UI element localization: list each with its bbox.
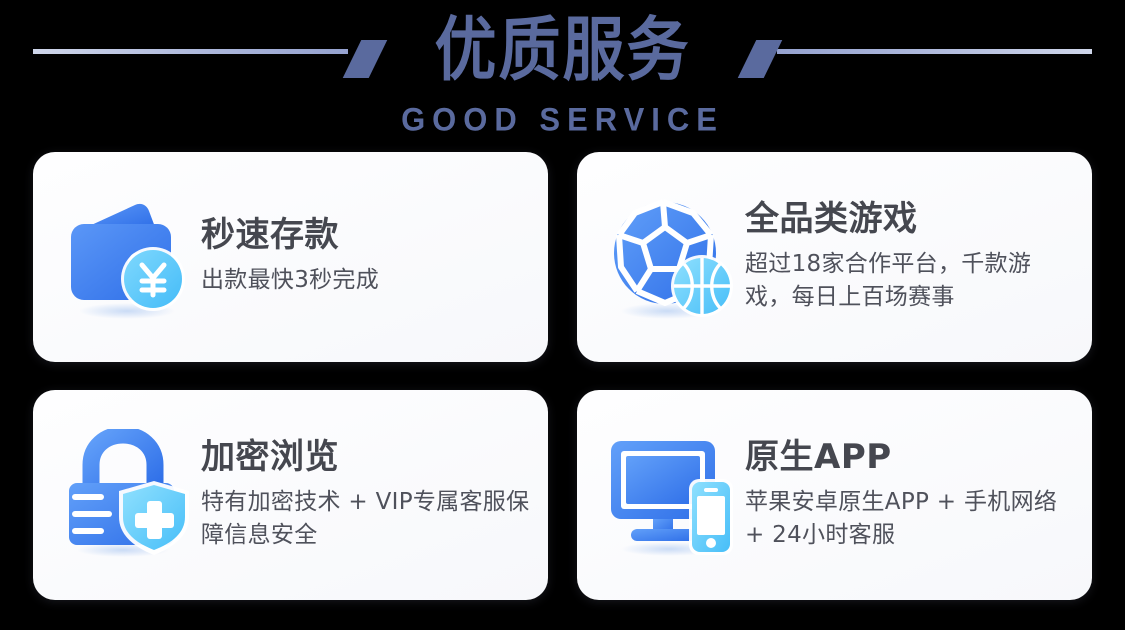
feature-card-text: 全品类游戏 超过18家合作平台，千款游戏，每日上百场赛事 (745, 201, 1076, 314)
wallet-yen-icon (61, 191, 193, 323)
feature-card-native-app[interactable]: 原生APP 苹果安卓原生APP + 手机网络 + 24小时客服 (577, 390, 1092, 600)
feature-card-text: 原生APP 苹果安卓原生APP + 手机网络 + 24小时客服 (745, 439, 1076, 552)
feature-card-desc: 出款最快3秒完成 (201, 264, 532, 297)
page-subtitle: GOOD SERVICE (0, 101, 1125, 139)
feature-card-desc: 苹果安卓原生APP + 手机网络 + 24小时客服 (745, 486, 1076, 551)
feature-card-desc: 超过18家合作平台，千款游戏，每日上百场赛事 (745, 248, 1076, 313)
header-title-block: 优质服务 GOOD SERVICE (0, 0, 1125, 138)
feature-card-grid: 秒速存款 出款最快3秒完成 (33, 152, 1092, 600)
feature-card-text: 加密浏览 特有加密技术 + VIP专属客服保障信息安全 (201, 439, 532, 552)
feature-card-encryption[interactable]: 加密浏览 特有加密技术 + VIP专属客服保障信息安全 (33, 390, 548, 600)
feature-card-title: 加密浏览 (201, 439, 532, 476)
page-header: 优质服务 GOOD SERVICE (0, 0, 1125, 142)
feature-card-title: 原生APP (745, 439, 1076, 476)
page-title: 优质服务 (0, 0, 1125, 85)
feature-card-deposit[interactable]: 秒速存款 出款最快3秒完成 (33, 152, 548, 362)
monitor-phone-icon (605, 429, 737, 561)
feature-card-desc: 特有加密技术 + VIP专属客服保障信息安全 (201, 486, 532, 551)
feature-card-text: 秒速存款 出款最快3秒完成 (201, 217, 532, 297)
feature-card-title: 秒速存款 (201, 217, 532, 254)
lock-shield-icon (61, 429, 193, 561)
feature-card-title: 全品类游戏 (745, 201, 1076, 238)
feature-card-games[interactable]: 全品类游戏 超过18家合作平台，千款游戏，每日上百场赛事 (577, 152, 1092, 362)
soccer-basketball-icon (605, 191, 737, 323)
